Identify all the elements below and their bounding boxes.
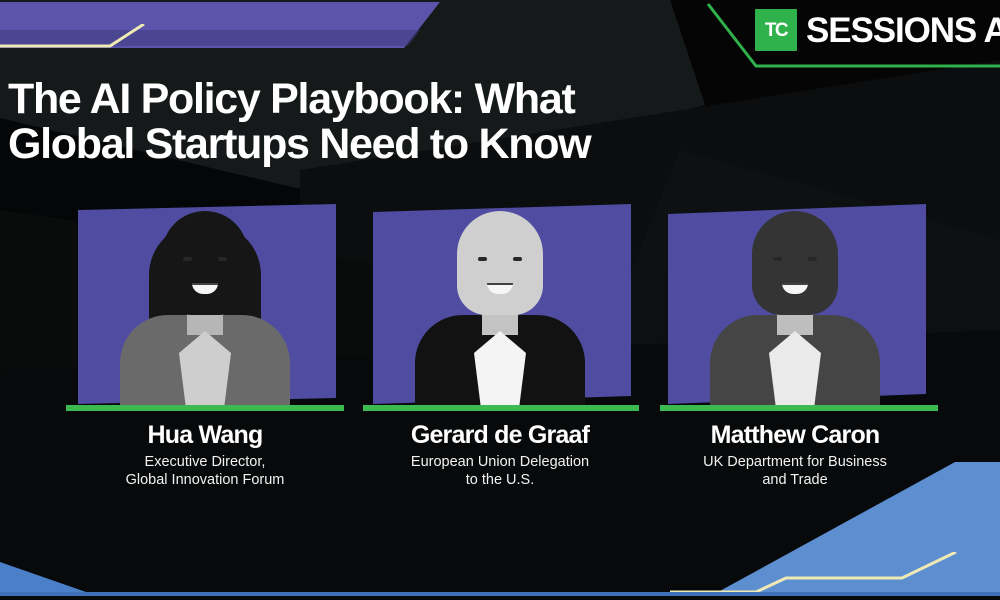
speaker-photo — [60, 196, 350, 411]
speaker-name: Hua Wang — [60, 422, 350, 450]
speaker-role: UK Department for Business and Trade — [650, 453, 940, 490]
techcrunch-logo-text: TC — [765, 21, 787, 40]
speaker-info: Hua Wang Executive Director, Global Inno… — [60, 422, 350, 490]
eye-right — [808, 257, 817, 261]
green-underline-bar — [66, 405, 344, 411]
portrait-illustration — [60, 199, 350, 411]
speaker-photo — [650, 196, 940, 411]
sessions-wordmark: SESSIONS A — [806, 13, 1000, 48]
cream-accent-line-top-left — [0, 24, 224, 50]
speaker-card: Matthew Caron UK Department for Business… — [650, 196, 940, 496]
eye-left — [183, 257, 192, 261]
speaker-card: Gerard de Graaf European Union Delegatio… — [355, 196, 645, 496]
eye-right — [218, 257, 227, 261]
speaker-role: Executive Director, Global Innovation Fo… — [60, 453, 350, 490]
speaker-role: European Union Delegation to the U.S. — [355, 453, 645, 490]
session-title: The AI Policy Playbook: What Global Star… — [8, 77, 688, 168]
green-underline-bar — [363, 405, 639, 411]
cream-accent-line-bottom-right — [670, 552, 1000, 594]
techcrunch-logo-icon: TC — [755, 9, 797, 51]
slide-canvas: TC SESSIONS A The AI Policy Playbook: Wh… — [0, 0, 1000, 600]
portrait-illustration — [650, 199, 940, 411]
speaker-list: Hua Wang Executive Director, Global Inno… — [0, 196, 1000, 496]
hair-top-shape — [752, 211, 838, 315]
speaker-card: Hua Wang Executive Director, Global Inno… — [60, 196, 350, 496]
hair-top-shape — [457, 211, 543, 315]
speaker-info: Gerard de Graaf European Union Delegatio… — [355, 422, 645, 490]
speaker-name: Gerard de Graaf — [355, 422, 645, 450]
hair-top-shape — [162, 211, 248, 315]
green-underline-bar — [660, 405, 938, 411]
eye-left — [773, 257, 782, 261]
eye-left — [478, 257, 487, 261]
brand-logo-lockup: TC SESSIONS A — [755, 8, 1000, 52]
speaker-info: Matthew Caron UK Department for Business… — [650, 422, 940, 490]
speaker-photo — [355, 196, 645, 411]
blue-bottom-rule — [0, 592, 1000, 596]
eye-right — [513, 257, 522, 261]
speaker-name: Matthew Caron — [650, 422, 940, 450]
portrait-illustration — [355, 199, 645, 411]
